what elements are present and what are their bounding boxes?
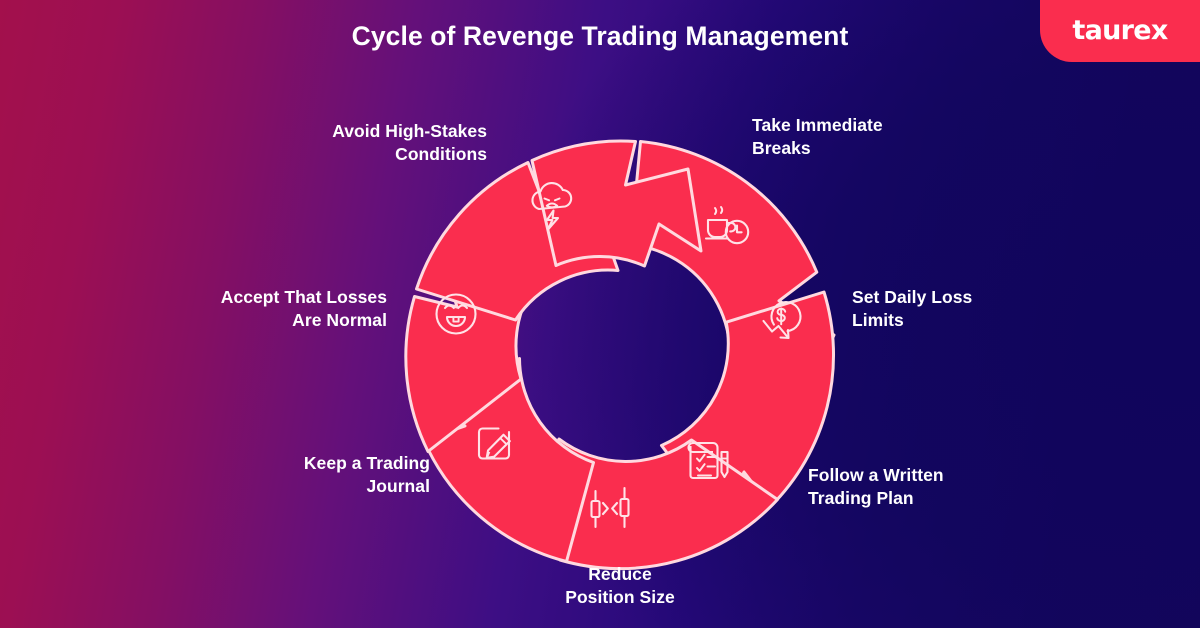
taurex-logo: taurex — [1040, 0, 1200, 62]
label-follow-a-written-trading-plan: Follow a Written Trading Plan — [808, 464, 1038, 510]
label-accept-that-losses-are-normal: Accept That Losses Are Normal — [175, 286, 387, 332]
logo-wordmark: taurex — [1072, 17, 1167, 44]
label-keep-a-trading-journal: Keep a Trading Journal — [238, 452, 430, 498]
label-avoid-high-stakes-conditions: Avoid High-Stakes Conditions — [265, 120, 487, 166]
infographic-canvas: taurex Cycle of Revenge Trading Manageme… — [0, 0, 1200, 628]
label-set-daily-loss-limits: Set Daily Loss Limits — [852, 286, 1072, 332]
page-title: Cycle of Revenge Trading Management — [0, 21, 1200, 52]
cycle-diagram — [405, 120, 835, 590]
label-reduce-position-size: Reduce Position Size — [520, 563, 720, 609]
label-take-immediate-breaks: Take Immediate Breaks — [752, 114, 972, 160]
